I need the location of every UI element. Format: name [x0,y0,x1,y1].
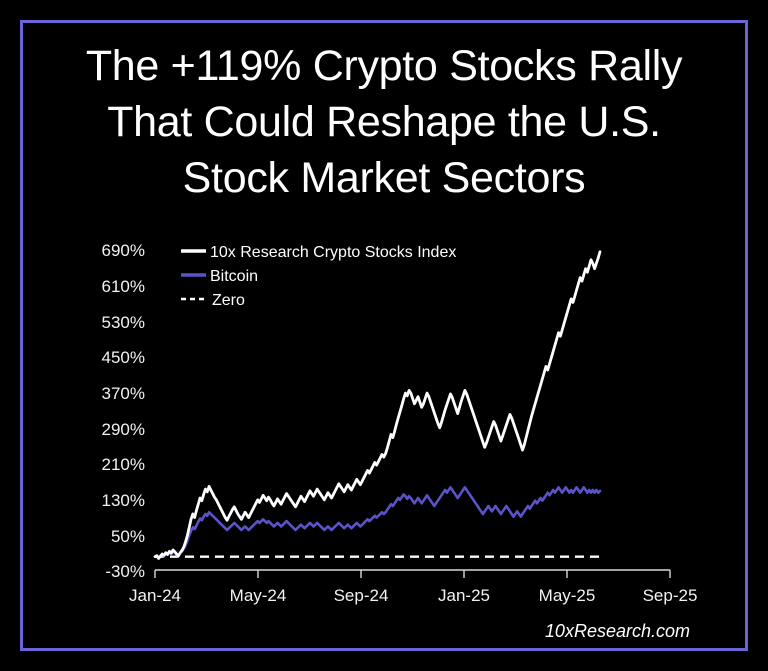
x-tick-label: Jan-25 [438,586,490,605]
legend-label-zero: Zero [212,292,245,309]
y-tick-label: 450% [102,348,145,367]
y-tick-label: 610% [102,277,145,296]
x-tick-label: Sep-25 [643,586,698,605]
x-tick-label: May-24 [230,586,287,605]
y-tick-label: 210% [102,455,145,474]
y-tick-label: 290% [102,420,145,439]
y-tick-label: -30% [105,562,145,581]
y-tick-label: 130% [102,491,145,510]
y-tick-label: 690% [102,241,145,260]
series-line-bitcoin [155,487,600,557]
legend-label-bitcoin: Bitcoin [210,268,258,285]
chart-legend: 10x Research Crypto Stocks Index Bitcoin… [181,244,456,309]
y-tick-label: 530% [102,313,145,332]
x-axis-tick-labels: Jan-24 May-24 Sep-24 Jan-25 May-25 Sep-2… [129,586,697,605]
poster-canvas: The +119% Crypto Stocks Rally That Could… [0,0,768,671]
y-tick-label: 50% [111,527,145,546]
y-tick-label: 370% [102,384,145,403]
x-tick-label: May-25 [539,586,596,605]
x-tick-label: Jan-24 [129,586,181,605]
y-axis-tick-labels: 690% 610% 530% 450% 370% 290% 210% 130% … [102,241,145,581]
x-tick-label: Sep-24 [334,586,389,605]
x-axis [155,570,670,578]
watermark-label: 10xResearch.com [545,621,690,641]
chart-figure: 690% 610% 530% 450% 370% 290% 210% 130% … [0,0,768,671]
legend-label-crypto-index: 10x Research Crypto Stocks Index [210,244,456,261]
